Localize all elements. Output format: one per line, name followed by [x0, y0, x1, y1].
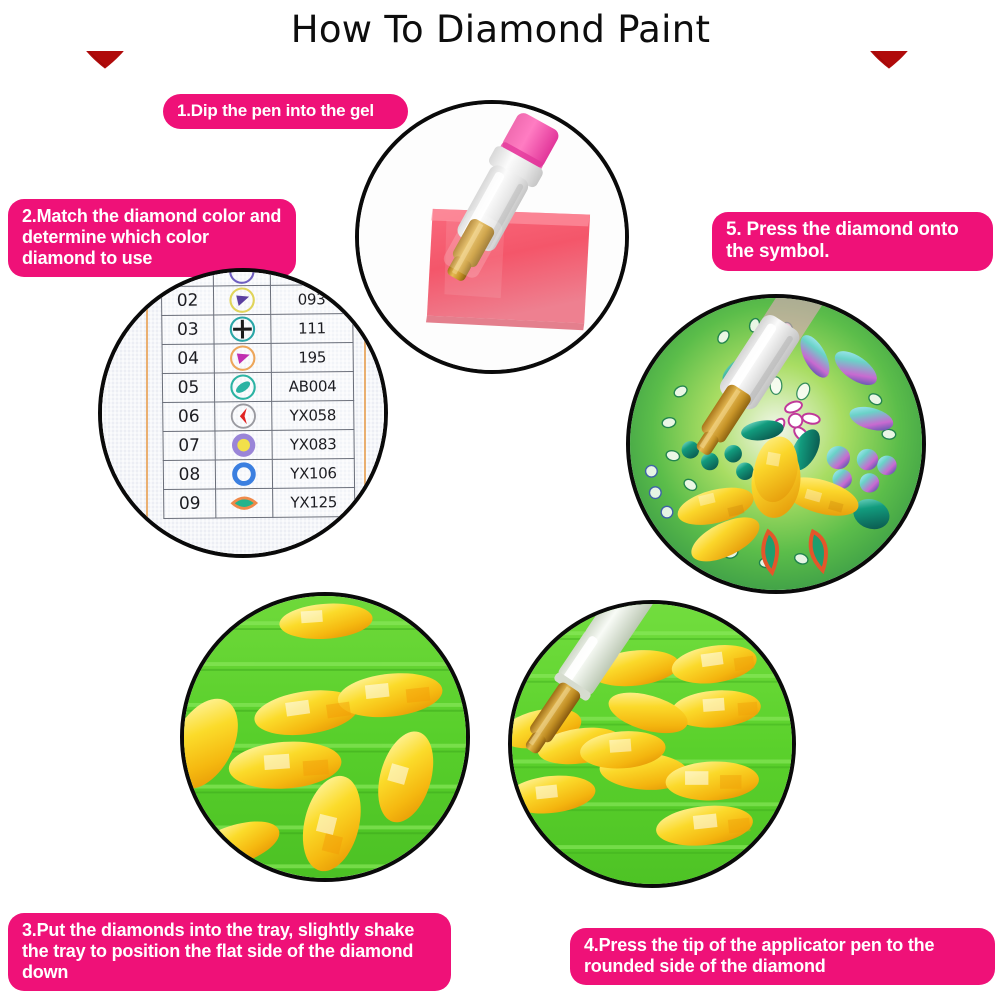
- chart-row-symbol: [214, 314, 271, 344]
- chart-row-symbol: [215, 401, 272, 431]
- chart-table-body: 02802093031110419505AB00406YX05807YX0830…: [161, 268, 355, 518]
- chart-row-code: YX083: [272, 429, 354, 459]
- page-title-text: How To Diamond Paint: [275, 8, 727, 51]
- chart-row: 07YX083: [163, 429, 354, 460]
- chart-row-number: 08: [163, 460, 215, 490]
- pen-picking-diamond-photo: [508, 600, 796, 888]
- chart-row-symbol: [215, 430, 272, 460]
- cross-in-circle-icon: [214, 315, 270, 344]
- chart-row-number: 05: [162, 373, 214, 403]
- pressing-diamond-on-canvas-photo: [626, 294, 926, 594]
- chart-row-symbol: [215, 459, 272, 489]
- step-2-label: 2.Match the diamond color and determine …: [8, 199, 296, 277]
- chart-row-symbol: [213, 268, 270, 286]
- step-4-label: 4.Press the tip of the applicator pen to…: [570, 928, 995, 985]
- step-1-label: 1.Dip the pen into the gel: [163, 94, 408, 129]
- chart-row: 02093: [161, 285, 352, 316]
- step-5-illustration: [630, 298, 922, 590]
- chart-row-code: 195: [271, 343, 353, 373]
- chart-row: 04195: [162, 343, 353, 374]
- triangle-in-circle-icon: [215, 344, 271, 373]
- chart-row: 06YX058: [163, 400, 354, 431]
- margin-line: [364, 272, 366, 554]
- page-header: How To Diamond Paint: [0, 0, 1001, 82]
- diamond-color-chart-table: 02802093031110419505AB00406YX05807YX0830…: [161, 268, 356, 519]
- chart-row-symbol: [214, 372, 271, 402]
- chart-row-symbol: [213, 285, 270, 315]
- triangle-in-circle-icon: [214, 286, 270, 315]
- chart-row-code: YX106: [272, 458, 354, 488]
- pen-dipping-into-gel-photo: [355, 100, 629, 374]
- margin-line: [146, 272, 148, 554]
- dot-in-ring-icon: [215, 431, 271, 460]
- chart-row-symbol: [214, 343, 271, 373]
- chart-row-code: YX058: [272, 400, 354, 430]
- step-3-illustration: [184, 596, 466, 878]
- chart-row-code: AB004: [271, 372, 353, 402]
- ellipse-in-circle-icon: [215, 373, 271, 402]
- chart-row: 09YX125: [164, 487, 355, 518]
- page-title: How To Diamond Paint: [0, 8, 1001, 51]
- color-chart-photo: 02802093031110419505AB00406YX05807YX0830…: [98, 268, 388, 558]
- chart-row: 03111: [162, 314, 353, 345]
- chart-row-code: 093: [271, 285, 353, 315]
- chart-row-number: 02: [161, 286, 213, 316]
- step-5-label: 5. Press the diamond onto the symbol.: [712, 212, 993, 271]
- chart-row-number: 09: [164, 489, 216, 519]
- step-4-illustration: [512, 604, 792, 884]
- leaf-icon: [216, 489, 272, 518]
- chart-row: 05AB004: [162, 372, 353, 403]
- double-dot-circle-icon: [214, 268, 270, 285]
- chart-row-number: 03: [162, 315, 214, 345]
- step-3-label: 3.Put the diamonds into the tray, slight…: [8, 913, 451, 991]
- arrow-in-circle-icon: [215, 402, 271, 431]
- diamonds-in-tray-photo: [180, 592, 470, 882]
- chart-row-symbol: [216, 488, 273, 518]
- chart-row-number: 06: [163, 402, 215, 432]
- chart-row: 08YX106: [163, 458, 354, 489]
- open-ring-icon: [216, 460, 272, 489]
- chart-row-number: 04: [162, 344, 214, 374]
- step-1-illustration: [359, 104, 625, 370]
- chart-paper: 02802093031110419505AB00406YX05807YX0830…: [102, 272, 384, 554]
- chart-row-code: YX125: [273, 487, 355, 517]
- chart-row-number: 07: [163, 431, 215, 461]
- chart-row-code: 111: [271, 314, 353, 344]
